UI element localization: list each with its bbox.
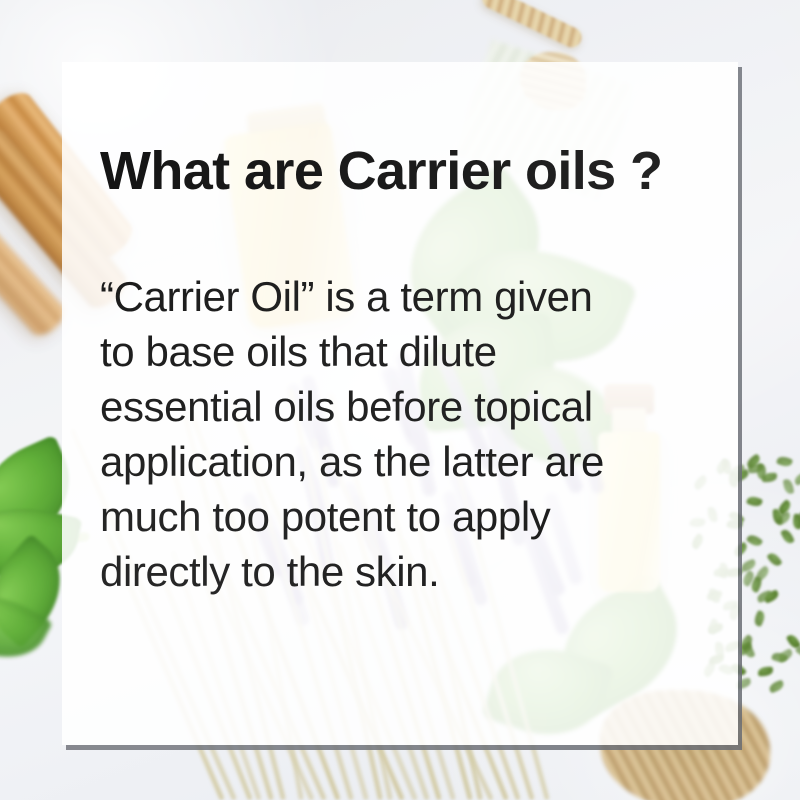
body-text: “Carrier Oil” is a term given to base oi…	[100, 199, 700, 599]
card-inner: What are Carrier oils ? “Carrier Oil” is…	[62, 62, 738, 745]
body-line: much too potent to apply	[100, 489, 700, 544]
twine-icon	[479, 0, 585, 51]
content-card: What are Carrier oils ? “Carrier Oil” is…	[62, 62, 738, 745]
body-line: “Carrier Oil” is a term given	[100, 269, 700, 324]
infographic-canvas: What are Carrier oils ? “Carrier Oil” is…	[0, 0, 800, 800]
mint-leaf-icon	[0, 577, 53, 677]
body-line: application, as the latter are	[100, 434, 700, 489]
page-title: What are Carrier oils ?	[100, 144, 700, 199]
body-line: essential oils before topical	[100, 379, 700, 434]
body-line: to base oils that dilute	[100, 324, 700, 379]
body-line: directly to the skin.	[100, 544, 700, 599]
cinnamon-stick-icon	[0, 203, 70, 341]
